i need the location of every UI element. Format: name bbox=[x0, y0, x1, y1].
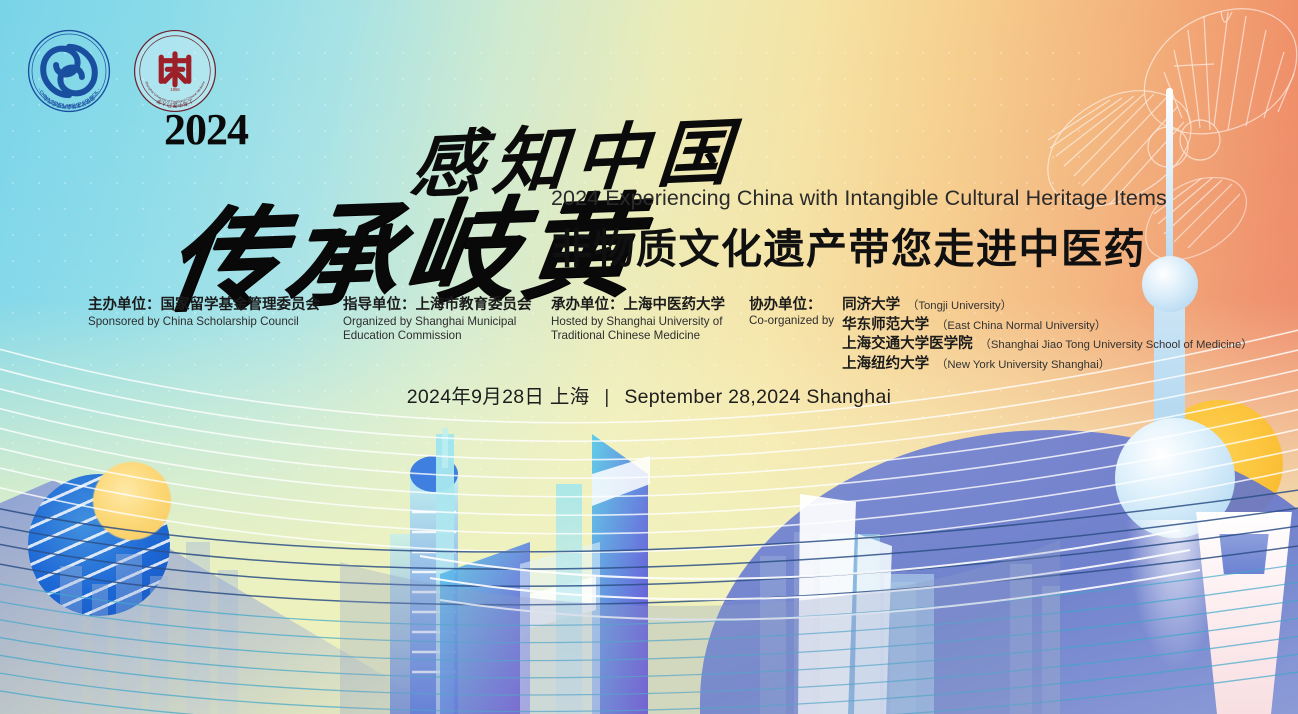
credit-host-en-2: Traditional Chinese Medicine bbox=[551, 329, 749, 343]
event-date-english: September 28,2024 Shanghai bbox=[624, 386, 891, 408]
credit-organizer-en-2: Education Commission bbox=[343, 329, 551, 343]
event-date-line: 2024年9月28日 上海 | September 28,2024 Shangh… bbox=[0, 380, 1298, 409]
date-separator: | bbox=[595, 386, 618, 408]
co-organizer-item: 上海纽约大学 （New York University Shanghai） bbox=[842, 355, 1252, 375]
subtitle-chinese: 非物质文化遗产带您走进中医药 bbox=[551, 215, 1167, 275]
shanghai-world-financial-center bbox=[1192, 512, 1296, 714]
blue-striped-circle bbox=[28, 474, 170, 616]
csc-logo: · CHINA SCHOLARSHIP COUNCIL · 国家留学基金管理委员… bbox=[26, 28, 112, 114]
co-organizer-label-cn: 协办单位： bbox=[749, 296, 834, 314]
white-tower-b bbox=[854, 534, 892, 714]
credit-host-cn: 承办单位：上海中医药大学 bbox=[551, 296, 749, 315]
co-organizer-label-en: Co-organized by bbox=[749, 314, 834, 328]
co-organizer-labels: 协办单位： Co-organized by bbox=[749, 296, 834, 374]
subtitle-english: 2024 Experiencing China with Intangible … bbox=[551, 186, 1167, 211]
logo-row: · CHINA SCHOLARSHIP COUNCIL · 国家留学基金管理委员… bbox=[26, 28, 218, 114]
credit-co-organizers: 协办单位： Co-organized by 同济大学 （Tongji Unive… bbox=[749, 296, 1253, 374]
right-dome-shape bbox=[700, 430, 1298, 714]
credit-organizer-en-1: Organized by Shanghai Municipal bbox=[343, 315, 551, 329]
co-organizer-item: 同济大学 （Tongji University） bbox=[842, 296, 1252, 316]
co-organizer-name-en: （Tongji University） bbox=[907, 297, 1012, 316]
co-organizer-item: 上海交通大学医学院 （Shanghai Jiao Tong University… bbox=[842, 335, 1252, 355]
credit-sponsor-en: Sponsored by China Scholarship Council bbox=[88, 315, 343, 329]
white-tower-a bbox=[798, 494, 856, 714]
credit-sponsor: 主办单位：国家留学基金管理委员会 Sponsored by China Scho… bbox=[88, 296, 343, 329]
event-poster: · CHINA SCHOLARSHIP COUNCIL · 国家留学基金管理委员… bbox=[0, 0, 1298, 714]
co-organizer-name-cn: 华东师范大学 bbox=[842, 316, 929, 335]
event-date-chinese: 2024年9月28日 上海 bbox=[407, 386, 590, 408]
left-hill-shape bbox=[0, 480, 500, 714]
co-organizer-list: 同济大学 （Tongji University） 华东师范大学 （East Ch… bbox=[842, 296, 1252, 374]
credit-host-en-1: Hosted by Shanghai University of bbox=[551, 315, 749, 329]
credit-sponsor-cn: 主办单位：国家留学基金管理委员会 bbox=[88, 296, 343, 315]
shard-tower-a bbox=[440, 542, 530, 714]
credit-organizer: 指导单位：上海市教育委员会 Organized by Shanghai Muni… bbox=[343, 296, 551, 343]
shard-tower-b bbox=[592, 434, 648, 714]
co-organizer-name-cn: 上海纽约大学 bbox=[842, 355, 929, 374]
credit-host: 承办单位：上海中医药大学 Hosted by Shanghai Universi… bbox=[551, 296, 749, 343]
shanghai-skyline bbox=[0, 414, 1298, 714]
title-year: 2024 bbox=[164, 108, 248, 152]
co-organizer-item: 华东师范大学 （East China Normal University） bbox=[842, 316, 1252, 336]
credit-organizer-cn: 指导单位：上海市教育委员会 bbox=[343, 296, 551, 315]
credits-row: 主办单位：国家留学基金管理委员会 Sponsored by China Scho… bbox=[88, 296, 1253, 374]
slim-tower bbox=[436, 436, 454, 714]
poster-title: 2024 感知中国 传承岐黄 bbox=[164, 108, 248, 152]
co-organizer-name-cn: 上海交通大学医学院 bbox=[842, 335, 973, 354]
co-organizer-name-en: （East China Normal University） bbox=[936, 317, 1106, 336]
shutcm-logo: 1956 上海中医药大学 Shanghai University of Trad… bbox=[132, 28, 218, 114]
jinmao-tower bbox=[390, 456, 458, 714]
co-organizer-name-en: （Shanghai Jiao Tong University School of… bbox=[980, 336, 1253, 355]
co-organizer-name-en: （New York University Shanghai） bbox=[936, 356, 1110, 375]
svg-text:1956: 1956 bbox=[170, 87, 180, 92]
right-sun-circle bbox=[1155, 400, 1283, 528]
co-organizer-name-cn: 同济大学 bbox=[842, 296, 900, 315]
poster-subtitle: 2024 Experiencing China with Intangible … bbox=[551, 186, 1167, 275]
left-sun-circle bbox=[93, 462, 171, 540]
